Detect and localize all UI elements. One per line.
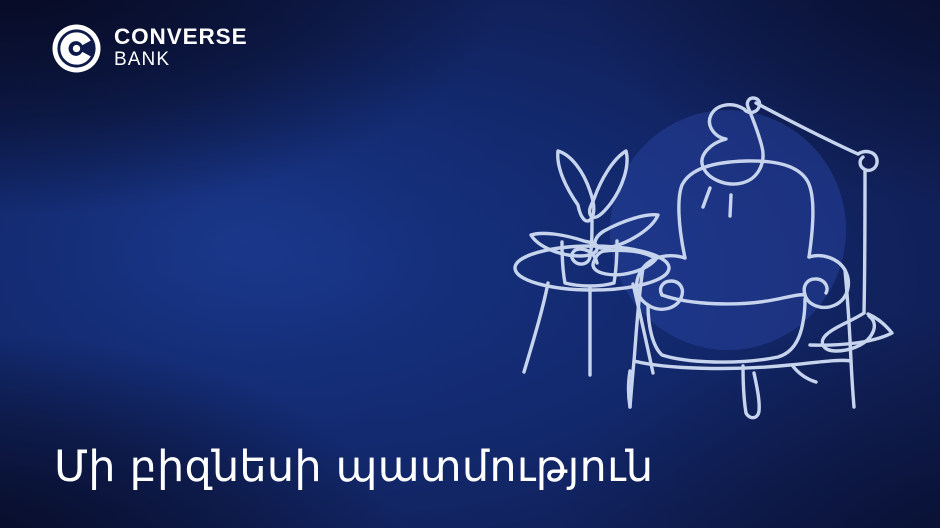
converse-bank-logo[interactable]: CONVERSE BANK [52, 24, 247, 73]
converse-bank-banner: CONVERSE BANK Մի բիզնեսի պատմություն [0, 0, 940, 528]
logo-wordmark: CONVERSE BANK [114, 25, 247, 72]
headline-text: Մի բիզնեսի պատմություն [54, 442, 653, 492]
converse-bank-logo-mark-icon [52, 24, 101, 73]
logo-word-converse: CONVERSE [114, 25, 247, 48]
logo-word-bank: BANK [114, 49, 247, 71]
living-room-illustration [500, 55, 920, 425]
